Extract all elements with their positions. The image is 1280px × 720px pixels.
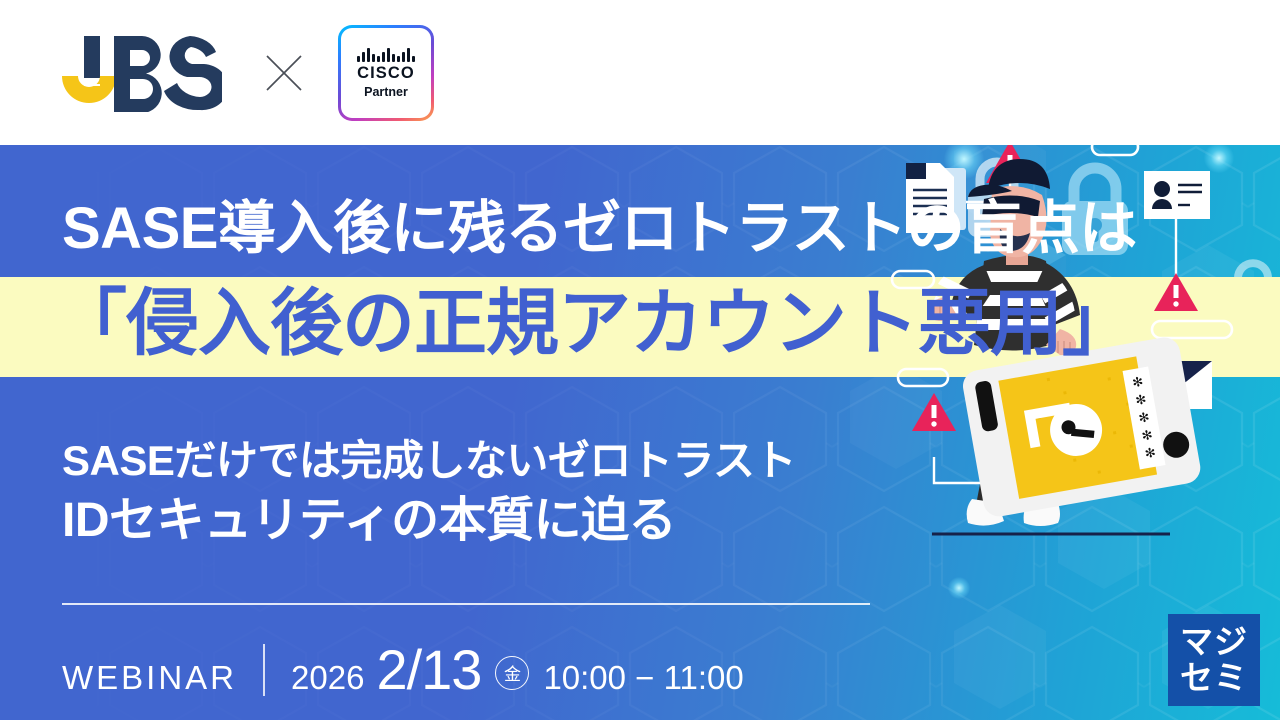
headline: SASE導入後に残るゼロトラストの盲点は	[62, 200, 1137, 258]
webinar-label: WEBINAR	[62, 659, 237, 697]
webinar-banner: CISCO Partner	[0, 0, 1280, 720]
poster-body: ✻✻ ✻✻ ✻ マジ セミ SASE導入後に残るゼロトラストの盲点は 「侵入後の…	[0, 145, 1280, 720]
webinar-day-of-week: 金	[495, 656, 529, 690]
subtitle-line-1: SASEだけでは完成しないゼロトラスト	[62, 440, 796, 482]
vertical-divider	[263, 644, 265, 696]
poster-copy: SASE導入後に残るゼロトラストの盲点は 「侵入後の正規アカウント悪用」 SAS…	[0, 145, 1280, 720]
webinar-year: 2026	[291, 659, 364, 697]
jbs-logo	[62, 34, 222, 112]
divider-rule	[62, 603, 870, 605]
webinar-time: 10:00 − 11:00	[543, 659, 743, 697]
highlight-headline: 「侵入後の正規アカウント悪用」	[54, 287, 1134, 360]
cisco-partner-label: Partner	[364, 86, 408, 99]
cisco-partner-badge: CISCO Partner	[338, 25, 434, 121]
logo-header-bar: CISCO Partner	[0, 0, 1280, 145]
subtitle-line-2: IDセキュリティの本質に迫る	[62, 497, 676, 545]
times-separator-icon	[264, 53, 304, 93]
cisco-bridge-icon	[357, 47, 414, 62]
webinar-schedule: WEBINAR 2026 2/13 金 10:00 − 11:00	[62, 637, 744, 702]
cisco-wordmark: CISCO	[357, 65, 415, 82]
webinar-date: 2/13	[376, 637, 481, 702]
